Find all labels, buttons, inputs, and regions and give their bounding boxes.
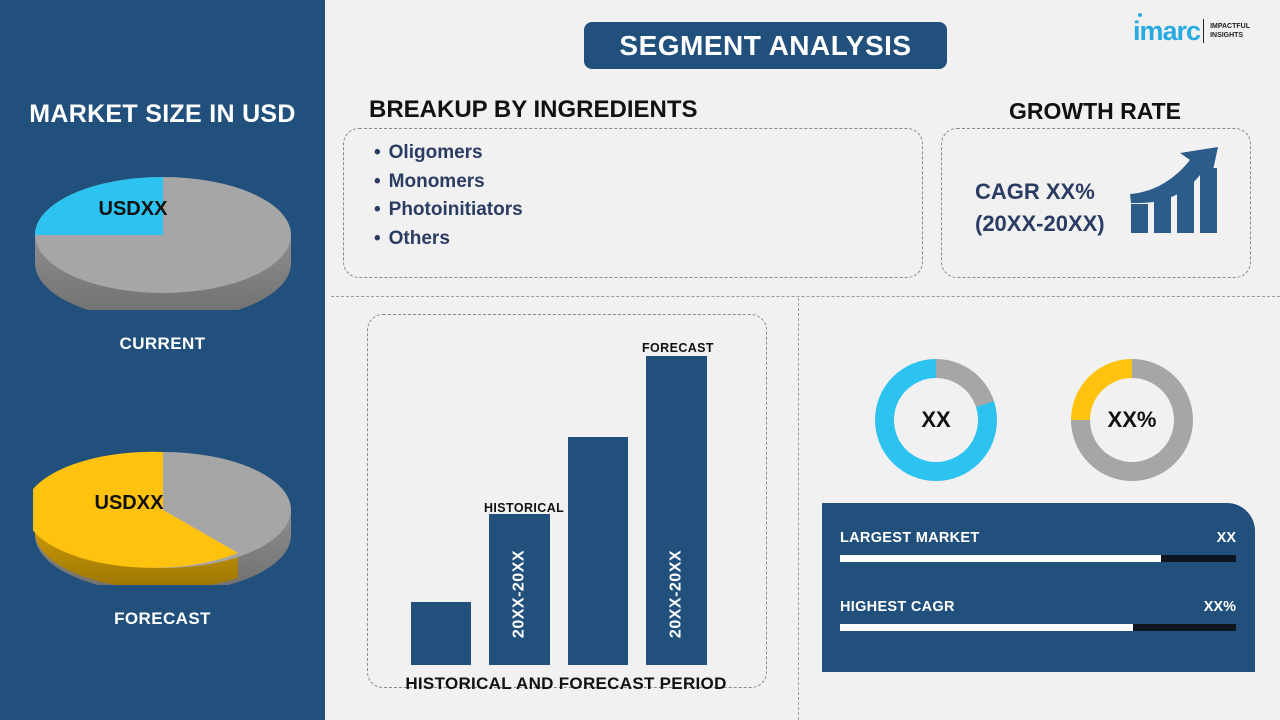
- bar-3: [568, 437, 628, 665]
- cagr-line-1: CAGR XX%: [975, 176, 1105, 208]
- current-market-size-pie: [33, 160, 293, 310]
- infographic-canvas: MARKET SIZE IN USD USDXX: [0, 0, 1280, 720]
- progress-track: [840, 555, 1236, 562]
- cagr-line-2: (20XX-20XX): [975, 208, 1105, 240]
- current-pie-stage: USDXX: [33, 160, 293, 310]
- list-item: Oligomers: [374, 139, 523, 168]
- stat-label: LARGEST MARKET: [840, 530, 980, 546]
- progress-fill: [840, 624, 1133, 631]
- logo-word-text: imarc: [1133, 16, 1200, 46]
- stat-label: HIGHEST CAGR: [840, 599, 955, 615]
- logo-wordmark: imarc: [1133, 18, 1200, 45]
- ingredients-list: Oligomers Monomers Photoinitiators Other…: [374, 139, 523, 253]
- stat-value: XX: [1217, 530, 1236, 546]
- stat-row: HIGHEST CAGR XX%: [840, 599, 1236, 621]
- logo-tagline: IMPACTFUL INSIGHTS: [1210, 22, 1250, 41]
- forecast-pie-block: USDXX FORECAST: [0, 435, 325, 629]
- current-pie-caption: CURRENT: [0, 334, 325, 354]
- list-item: Monomers: [374, 168, 523, 197]
- imarc-logo: imarc IMPACTFUL INSIGHTS: [1133, 14, 1250, 48]
- largest-market-donut-label: XX: [894, 378, 978, 462]
- bar-annotation-forecast: FORECAST: [642, 341, 714, 355]
- stat-value: XX%: [1204, 599, 1236, 615]
- growth-arrow-bars-icon: [1128, 146, 1220, 239]
- market-size-title: MARKET SIZE IN USD: [0, 100, 325, 129]
- progress-fill: [840, 555, 1161, 562]
- logo-dot-icon: [1138, 13, 1142, 17]
- largest-market-donut: XX: [875, 359, 997, 481]
- logo-divider: [1203, 19, 1204, 43]
- bar-1: [411, 602, 471, 665]
- stat-largest-market: LARGEST MARKET XX: [840, 530, 1236, 562]
- market-size-panel: MARKET SIZE IN USD USDXX: [0, 0, 325, 720]
- list-item: Photoinitiators: [374, 196, 523, 225]
- page-title: SEGMENT ANALYSIS: [584, 22, 947, 69]
- forecast-pie-stage: USDXX: [33, 435, 293, 585]
- vertical-divider: [798, 298, 799, 720]
- highest-cagr-donut-label: XX%: [1090, 378, 1174, 462]
- bar-chart-caption: HISTORICAL AND FORECAST PERIOD: [367, 674, 765, 694]
- bar-annotation-historical: HISTORICAL: [484, 501, 564, 515]
- forecast-market-size-pie: [33, 435, 293, 585]
- cagr-text: CAGR XX% (20XX-20XX): [975, 176, 1105, 240]
- current-pie-block: USDXX CURRENT: [0, 160, 325, 354]
- stats-panel: LARGEST MARKET XX HIGHEST CAGR XX%: [822, 503, 1255, 672]
- bar-2-period-label: 20XX-20XX: [511, 546, 529, 643]
- horizontal-divider: [331, 296, 1280, 297]
- highest-cagr-donut: XX%: [1071, 359, 1193, 481]
- growth-rate-heading: GROWTH RATE: [941, 98, 1249, 125]
- forecast-pie-caption: FORECAST: [0, 609, 325, 629]
- list-item: Others: [374, 225, 523, 254]
- ingredients-heading: BREAKUP BY INGREDIENTS: [369, 96, 698, 124]
- logo-tagline-line2: INSIGHTS: [1210, 31, 1250, 40]
- stat-highest-cagr: HIGHEST CAGR XX%: [840, 599, 1236, 631]
- logo-tagline-line1: IMPACTFUL: [1210, 22, 1250, 31]
- progress-track: [840, 624, 1236, 631]
- stat-row: LARGEST MARKET XX: [840, 530, 1236, 552]
- bar-4-period-label: 20XX-20XX: [668, 546, 686, 643]
